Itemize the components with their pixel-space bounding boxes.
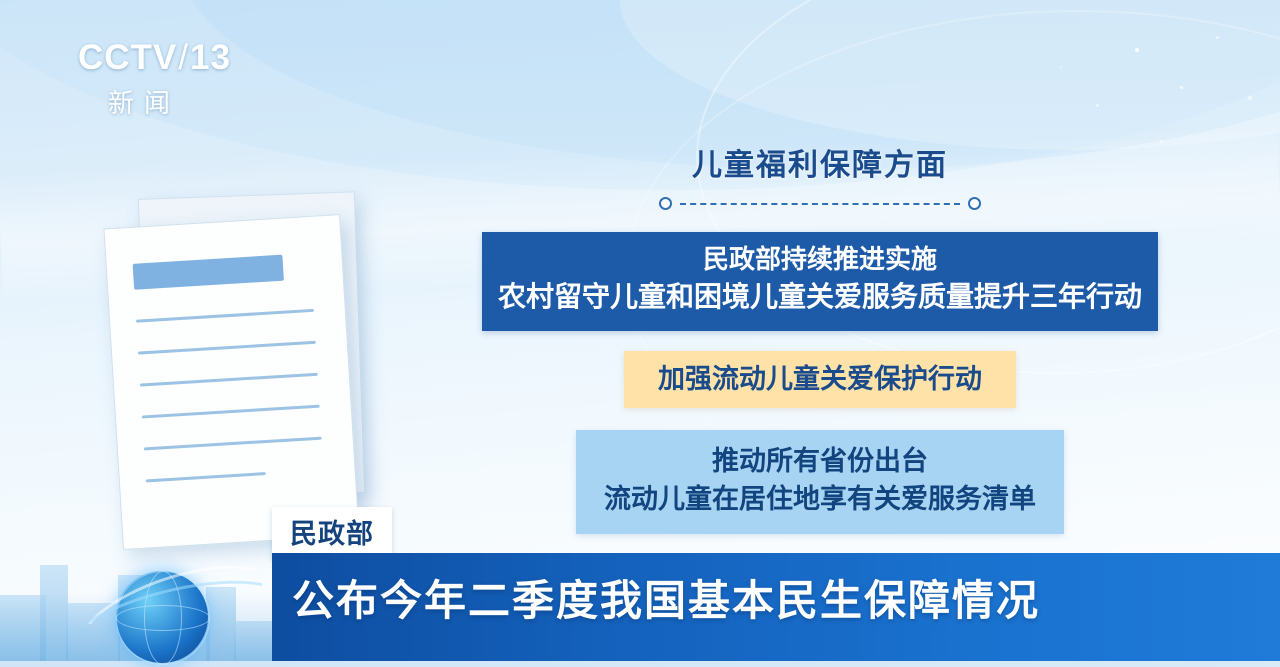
bar-accent-wrap: 加强流动儿童关爱保护行动	[420, 331, 1220, 408]
divider-dot-left	[659, 197, 672, 210]
lower-third-title: 公布今年二季度我国基本民生保障情况	[292, 567, 1040, 628]
infographic-content: 儿童福利保障方面 民政部持续推进实施 农村留守儿童和困境儿童关爱服务质量提升三年…	[420, 140, 1220, 534]
bar-accent-line1: 加强流动儿童关爱保护行动	[658, 362, 982, 397]
lower-third: 民政部 公布今年二季度我国基本民生保障情况	[272, 553, 1280, 661]
lower-third-bar: 公布今年二季度我国基本民生保障情况	[272, 553, 1280, 661]
channel-logo: CCTV/13 新闻	[78, 40, 231, 120]
lower-third-tag: 民政部	[272, 507, 392, 559]
globe-icon	[82, 555, 262, 667]
divider-dashed	[420, 197, 1220, 210]
bar-accent: 加强流动儿童关爱保护行动	[624, 351, 1016, 408]
bar-secondary-line1: 推动所有省份出台	[604, 442, 1036, 480]
bar-secondary-wrap: 推动所有省份出台 流动儿童在居住地享有关爱服务清单	[420, 408, 1220, 535]
channel-logo-text: CCTV	[78, 38, 177, 77]
section-title: 儿童福利保障方面	[420, 140, 1220, 184]
bar-secondary: 推动所有省份出台 流动儿童在居住地享有关爱服务清单	[576, 430, 1064, 535]
divider-line	[680, 203, 960, 205]
bar-primary-line2: 农村留守儿童和困境儿童关爱服务质量提升三年行动	[498, 278, 1142, 317]
channel-logo-number: 13	[190, 38, 231, 77]
channel-logo-subtitle: 新闻	[108, 83, 231, 120]
divider-dot-right	[968, 197, 981, 210]
bar-primary-wrap: 民政部持续推进实施 农村留守儿童和困境儿童关爱服务质量提升三年行动	[420, 210, 1220, 331]
bar-primary: 民政部持续推进实施 农村留守儿童和困境儿童关爱服务质量提升三年行动	[482, 232, 1158, 331]
document-front-sheet	[103, 214, 359, 550]
bar-primary-line1: 民政部持续推进实施	[498, 242, 1142, 278]
document-stack-icon	[95, 195, 415, 555]
channel-logo-slash: /	[177, 38, 190, 77]
bar-secondary-line2: 流动儿童在居住地享有关爱服务清单	[604, 480, 1036, 518]
